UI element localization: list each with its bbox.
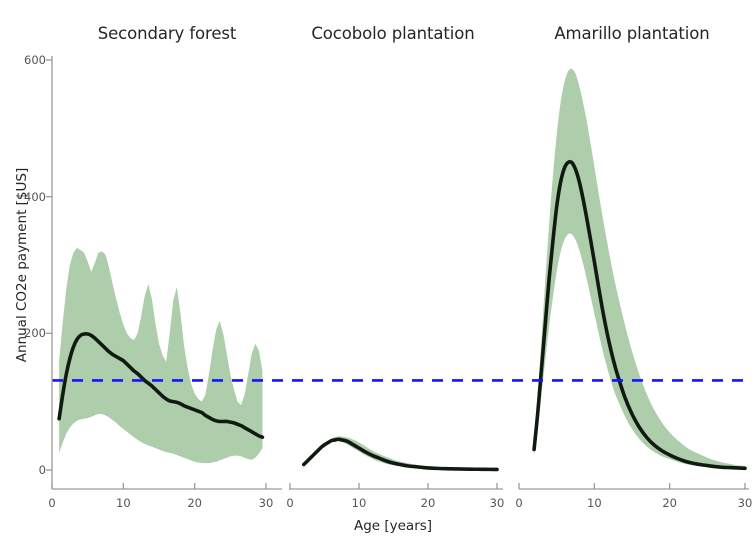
mean-line-panel-1 bbox=[304, 439, 497, 469]
figure-canvas: Secondary forest Cocobolo plantation Ama… bbox=[0, 0, 754, 545]
confidence-band-panel-2 bbox=[534, 69, 745, 469]
confidence-band-panel-0 bbox=[59, 248, 262, 463]
plot-area bbox=[0, 0, 754, 545]
